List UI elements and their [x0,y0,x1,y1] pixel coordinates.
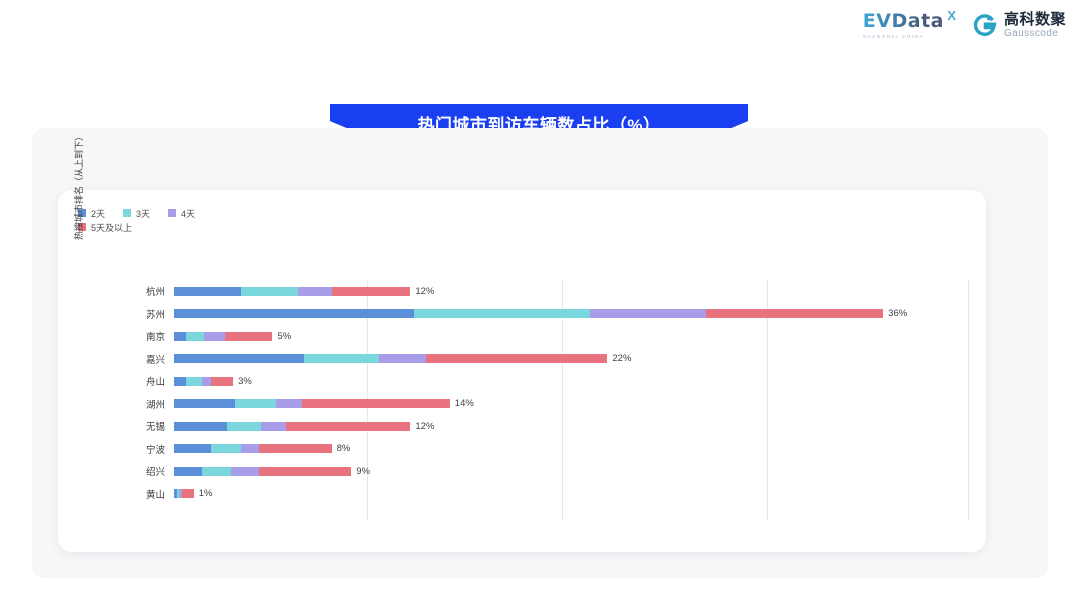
bar-segment[interactable] [332,287,411,296]
bar-value-label: 3% [238,376,252,387]
stacked-bar[interactable] [174,489,194,498]
stacked-bar[interactable] [174,309,883,318]
brand-group: EVData X SHANGHAI CHINA 高科数聚 Gausscode [863,12,1066,39]
stacked-bar[interactable] [174,467,351,476]
bar-segment[interactable] [204,332,226,341]
bar-value-label: 14% [455,398,474,409]
bar-wrapper: 5% [174,325,968,347]
bar-row[interactable]: 绍兴9% [103,460,968,482]
gridline-3 [968,280,969,520]
bar-segment[interactable] [174,287,241,296]
bar-wrapper: 3% [174,370,968,392]
bar-segment[interactable] [211,444,241,453]
bar-segment[interactable] [304,354,379,363]
bar-segment[interactable] [241,444,259,453]
category-label: 湖州 [103,397,174,411]
bar-segment[interactable] [302,399,450,408]
plot-area: 杭州12%苏州36%南京5%嘉兴22%舟山3%湖州14%无锡12%宁波8%绍兴9… [103,280,968,520]
bar-segment[interactable] [706,309,883,318]
bar-segment[interactable] [414,309,589,318]
bar-segment[interactable] [174,399,235,408]
category-label: 南京 [103,329,174,343]
bar-segment[interactable] [186,377,202,386]
bar-wrapper: 22% [174,348,968,370]
bar-segment[interactable] [286,422,410,431]
evdata-tagline: SHANGHAI CHINA [863,34,924,39]
bar-segment[interactable] [241,287,298,296]
bar-segment[interactable] [174,422,227,431]
category-label: 无锡 [103,419,174,433]
bar-segment[interactable] [174,309,414,318]
stacked-bar[interactable] [174,354,607,363]
bar-value-label: 36% [888,308,907,319]
bar-segment[interactable] [202,377,212,386]
bar-value-label: 8% [337,443,351,454]
stacked-bar[interactable] [174,377,233,386]
gausscode-logo: 高科数聚 Gausscode [972,12,1066,39]
bar-segment[interactable] [174,354,304,363]
gausscode-name-cn: 高科数聚 [1004,12,1066,27]
evdata-logo: EVData X SHANGHAI CHINA [863,12,956,39]
stacked-bar[interactable] [174,332,272,341]
bar-value-label: 1% [199,488,213,499]
category-label: 苏州 [103,307,174,321]
bar-segment[interactable] [259,467,352,476]
bar-segment[interactable] [174,332,186,341]
gausscode-g-icon [972,13,997,38]
bar-wrapper: 1% [174,483,968,505]
bar-row[interactable]: 无锡12% [103,415,968,437]
bar-value-label: 9% [356,466,370,477]
bar-segment[interactable] [174,467,202,476]
bar-segment[interactable] [174,444,211,453]
category-label: 绍兴 [103,464,174,478]
bar-segment[interactable] [174,377,186,386]
bar-value-label: 5% [277,331,291,342]
bar-row[interactable]: 黄山1% [103,483,968,505]
bar-value-label: 12% [415,421,434,432]
bar-segment[interactable] [259,444,332,453]
bar-row[interactable]: 南京5% [103,325,968,347]
bar-segment[interactable] [590,309,706,318]
category-label: 杭州 [103,284,174,298]
category-label: 黄山 [103,487,174,501]
chart-card: 2天 3天 4天 5天及以上 热搜城市排名（从上到下） 杭州12%苏州36%南京… [58,190,986,552]
stacked-bar[interactable] [174,444,332,453]
bar-segment[interactable] [379,354,426,363]
bar-segment[interactable] [182,489,194,498]
stacked-bar[interactable] [174,399,450,408]
evdata-superscript-x: X [947,9,956,22]
gausscode-name-en: Gausscode [1004,29,1066,39]
bar-wrapper: 8% [174,438,968,460]
bar-wrapper: 12% [174,415,968,437]
bar-row[interactable]: 宁波8% [103,438,968,460]
bar-value-label: 22% [612,353,631,364]
bar-segment[interactable] [225,332,272,341]
bar-segment[interactable] [231,467,259,476]
evdata-wordmark: EVData [863,12,944,31]
category-label: 舟山 [103,374,174,388]
page-header: EVData X SHANGHAI CHINA 高科数聚 Gausscode [0,0,1080,58]
bar-wrapper: 12% [174,280,968,302]
bar-segment[interactable] [202,467,232,476]
category-label: 嘉兴 [103,352,174,366]
bar-row[interactable]: 杭州12% [103,280,968,302]
bar-wrapper: 14% [174,393,968,415]
bar-segment[interactable] [298,287,331,296]
bar-segment[interactable] [186,332,204,341]
bar-segment[interactable] [211,377,233,386]
bar-row[interactable]: 苏州36% [103,303,968,325]
bar-row[interactable]: 湖州14% [103,393,968,415]
bar-segment[interactable] [276,399,302,408]
bar-row[interactable]: 舟山3% [103,370,968,392]
bar-row[interactable]: 嘉兴22% [103,348,968,370]
bar-segment[interactable] [426,354,607,363]
bar-wrapper: 9% [174,460,968,482]
bar-value-label: 12% [415,286,434,297]
bar-segment[interactable] [261,422,287,431]
bar-wrapper: 36% [174,303,968,325]
stacked-bar[interactable] [174,287,410,296]
bar-rows: 杭州12%苏州36%南京5%嘉兴22%舟山3%湖州14%无锡12%宁波8%绍兴9… [103,280,968,520]
category-label: 宁波 [103,442,174,456]
chart-area: 热搜城市排名（从上到下） 杭州12%苏州36%南京5%嘉兴22%舟山3%湖州14… [58,190,986,552]
bar-segment[interactable] [227,422,260,431]
y-axis-title: 热搜城市排名（从上到下） [72,86,85,286]
stacked-bar[interactable] [174,422,410,431]
bar-segment[interactable] [235,399,276,408]
gausscode-text: 高科数聚 Gausscode [1004,12,1066,39]
